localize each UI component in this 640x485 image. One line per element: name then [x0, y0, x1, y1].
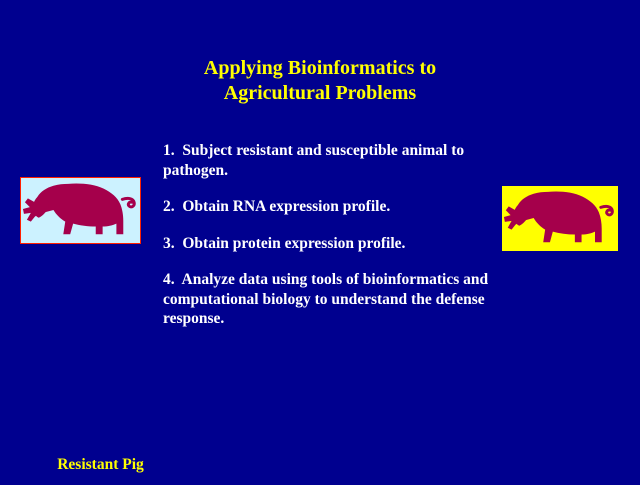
steps-list: 1. Subject resistant and susceptible ani… — [163, 141, 493, 329]
slide-title-line-2: Agricultural Problems — [120, 81, 520, 106]
step-item-4: 4. Analyze data using tools of bioinform… — [163, 270, 493, 329]
figure-resistant-pig: Resistant Pig — [20, 177, 141, 244]
slide-title-line-1: Applying Bioinformatics to — [120, 56, 520, 81]
step-item-2: 2. Obtain RNA expression profile. — [163, 197, 493, 217]
susceptible-pig-image — [502, 186, 618, 251]
step-item-1: 1. Subject resistant and susceptible ani… — [163, 141, 493, 180]
figure-susceptible-pig: Susceptible pig — [502, 186, 618, 251]
pig-icon — [21, 178, 140, 243]
slide-title: Applying Bioinformatics to Agricultural … — [120, 56, 520, 106]
step-item-3: 3. Obtain protein expression profile. — [163, 234, 493, 254]
presentation-slide: Applying Bioinformatics to Agricultural … — [0, 0, 640, 480]
resistant-pig-image — [20, 177, 141, 244]
pig-icon — [502, 186, 618, 251]
resistant-pig-caption: Resistant Pig — [40, 456, 161, 474]
